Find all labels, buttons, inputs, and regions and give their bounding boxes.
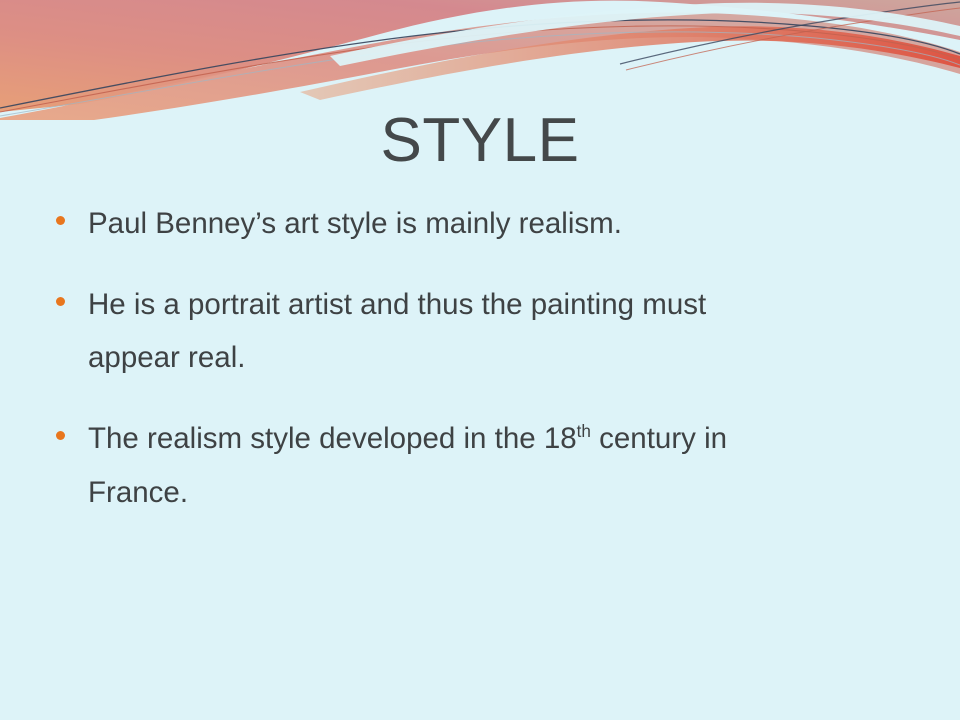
bullet-dot-icon <box>56 431 65 440</box>
bullet-text-3-line-1: The realism style developed in the 18th … <box>88 412 916 466</box>
bullet-text-3-part-1: The realism style developed in the 18 <box>88 422 577 455</box>
ordinal-superscript: th <box>577 422 591 441</box>
bullet-list: Paul Benney’s art style is mainly realis… <box>44 197 916 519</box>
list-item: He is a portrait artist and thus the pai… <box>44 278 916 385</box>
bullet-text-2-line-1: He is a portrait artist and thus the pai… <box>88 278 916 332</box>
bullet-text-1: Paul Benney’s art style is mainly realis… <box>88 197 916 251</box>
bullet-text-3-part-2: century in <box>591 422 727 455</box>
bullet-dot-icon <box>56 216 65 225</box>
bullet-text-2-line-2: appear real. <box>88 331 916 385</box>
page-title: STYLE <box>0 107 960 175</box>
list-item: The realism style developed in the 18th … <box>44 412 916 519</box>
slide-canvas: STYLE Paul Benney’s art style is mainly … <box>0 0 960 720</box>
list-item: Paul Benney’s art style is mainly realis… <box>44 197 916 251</box>
bullet-dot-icon <box>56 297 65 306</box>
wave-banner-decoration <box>0 0 960 120</box>
bullet-text-3-line-2: France. <box>88 466 916 520</box>
